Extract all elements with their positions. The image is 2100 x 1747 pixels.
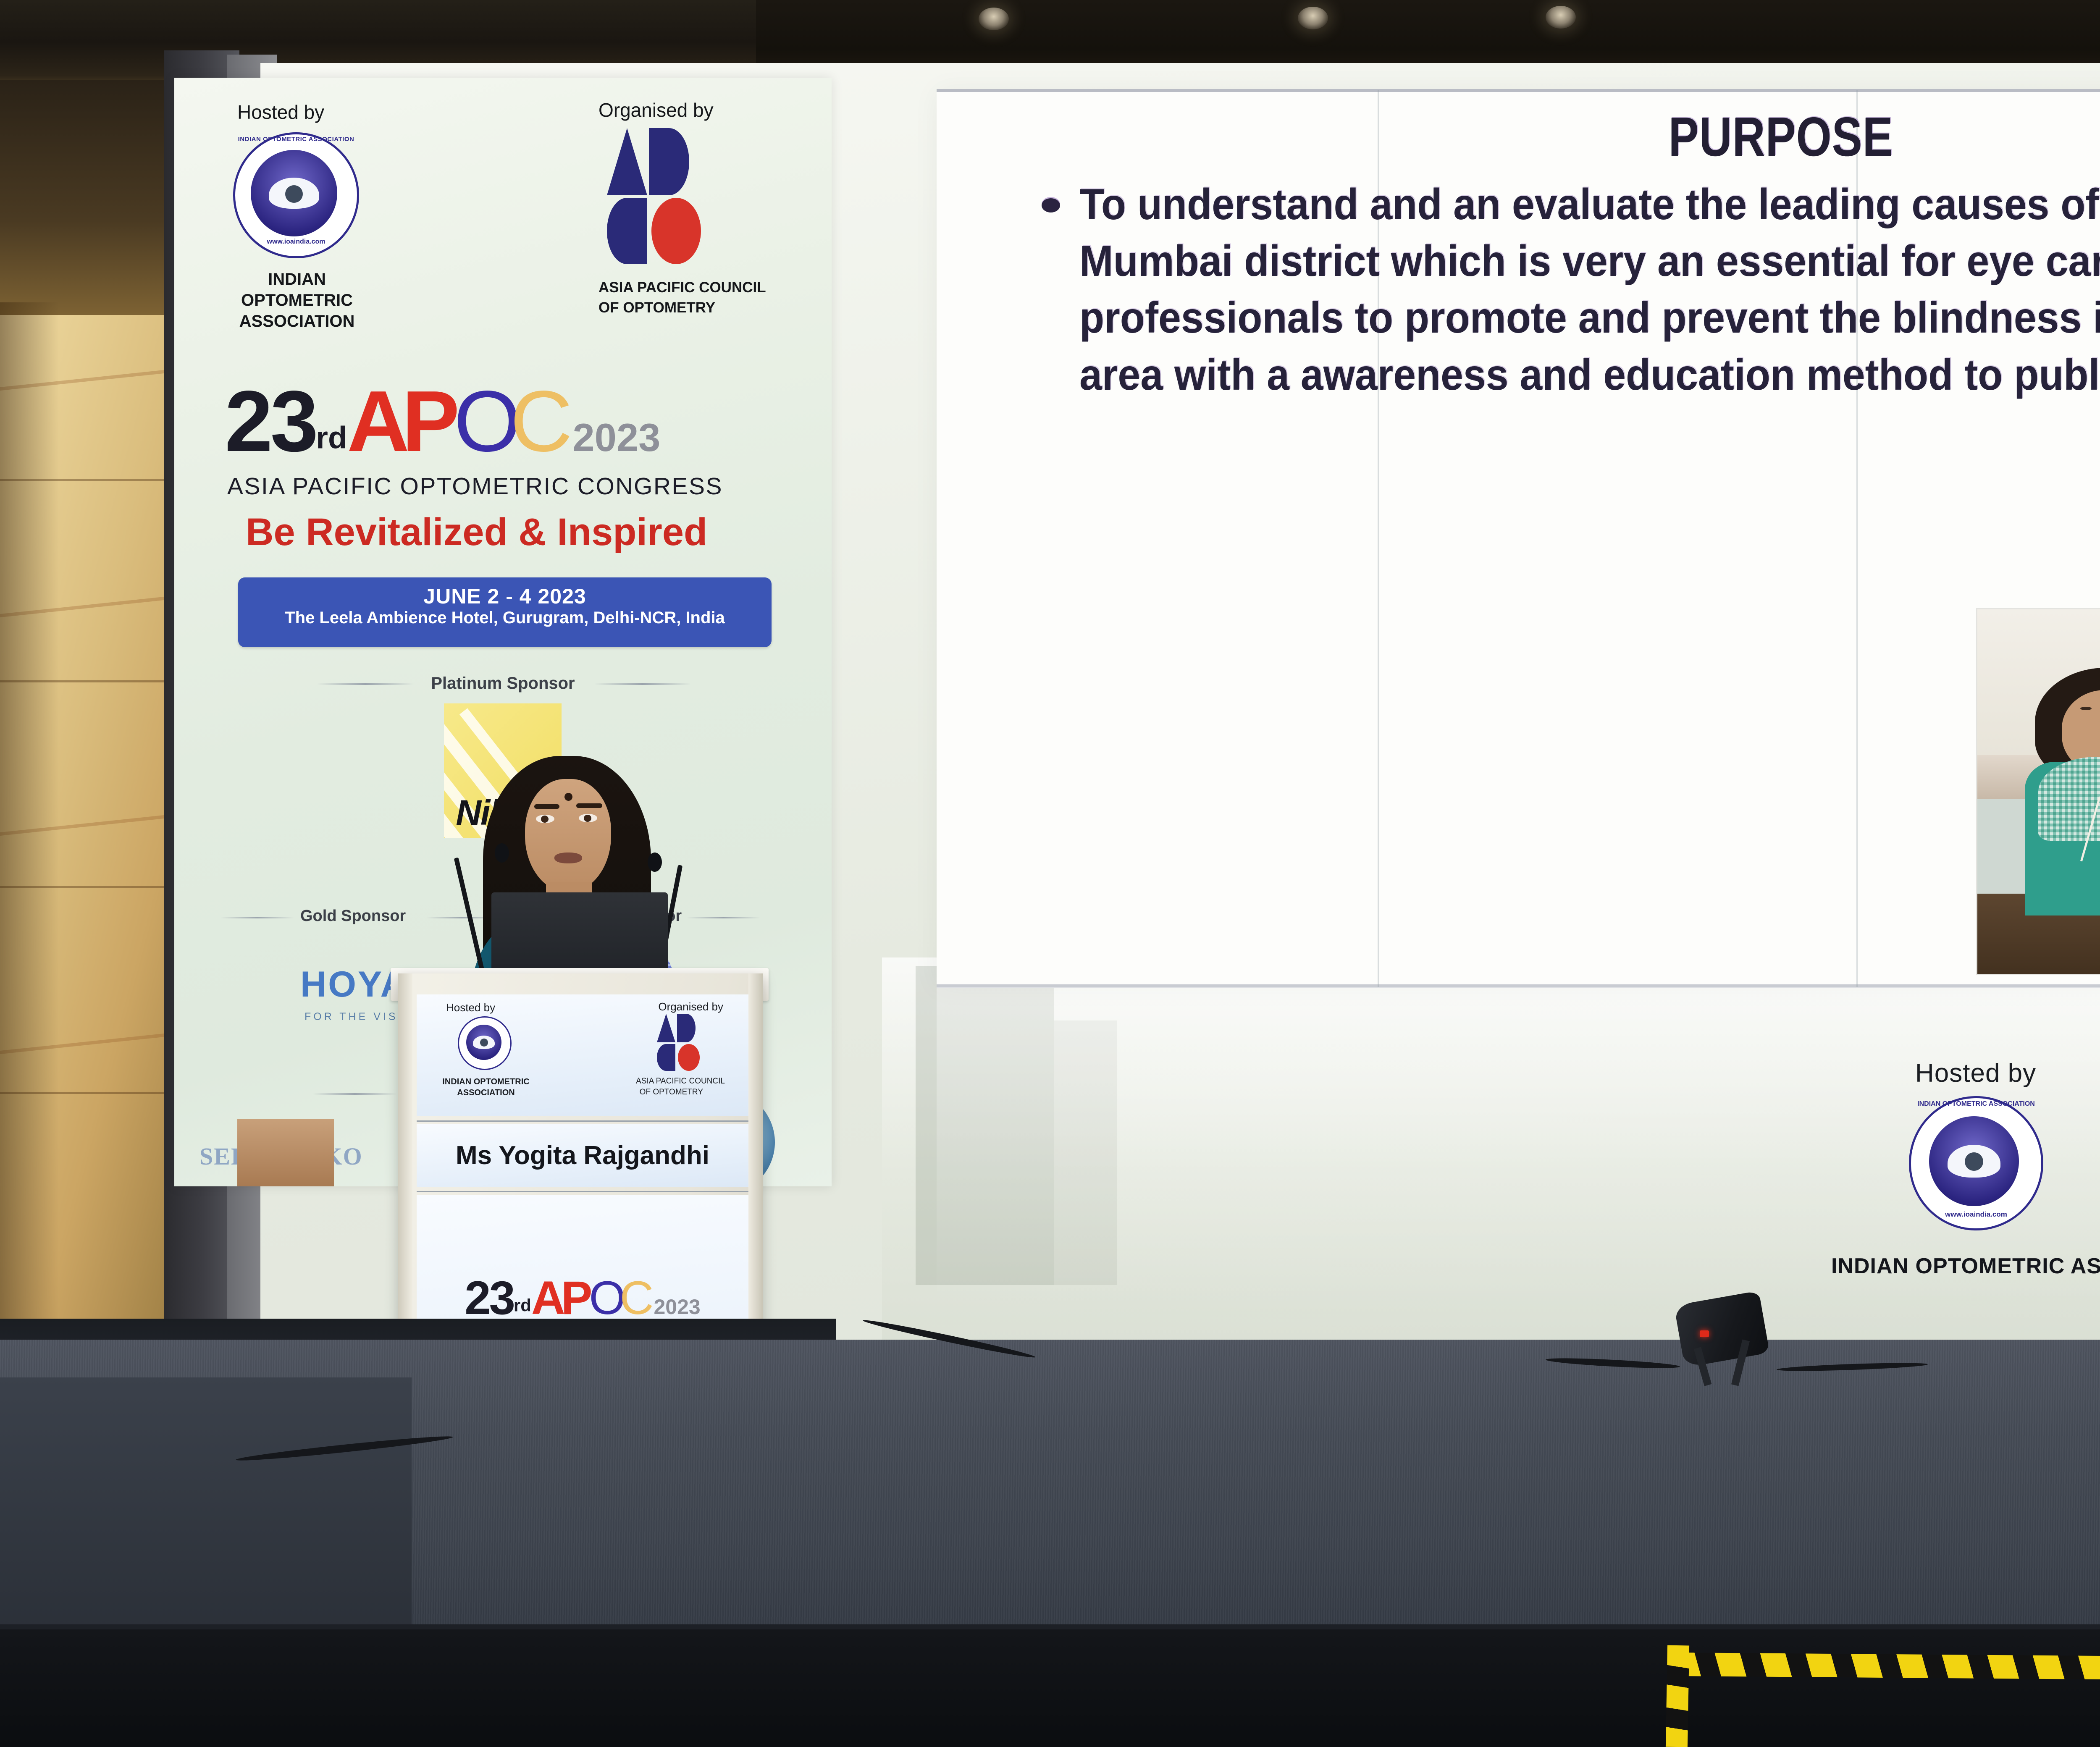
- speaker-eye: [579, 814, 597, 822]
- banner-congress-name: ASIA PACIFIC OPTOMETRIC CONGRESS: [227, 472, 723, 500]
- lectern-edition-number: 23: [465, 1272, 514, 1324]
- acronym-letter-a: A: [347, 373, 402, 470]
- lectern-edition-suffix: rd: [514, 1296, 531, 1315]
- banner-year: 2023: [572, 415, 660, 459]
- slide-title: PURPOSE: [1216, 105, 2100, 168]
- acronym-letter-p: P: [402, 373, 454, 470]
- speaker-mouth: [554, 853, 582, 863]
- conference-stage-scene: PURPOSE To understand and an evaluate th…: [0, 0, 2100, 1747]
- tier-rule: [687, 917, 760, 918]
- edition-number: 23: [225, 373, 316, 470]
- lectern-upper-panel: Hosted by Organised by INDIAN OPTOMETRIC…: [417, 994, 748, 1116]
- banner-host-org-name: INDIAN OPTOMETRIC ASSOCIATION: [226, 269, 368, 332]
- ioa-pupil: [480, 1039, 488, 1047]
- banner-organiser-line2: OF OPTOMETRY: [598, 299, 715, 316]
- apco-logo-block-p: [677, 1014, 696, 1042]
- tier-rule: [594, 683, 691, 685]
- photo-student-left: [2025, 668, 2100, 915]
- photo-eye: [2080, 707, 2092, 710]
- ceiling-spotlight: [1298, 7, 1328, 29]
- banner-hosted-by-label: Hosted by: [237, 101, 324, 123]
- lectern-divider: [417, 1191, 748, 1192]
- banner-wordmark: 23rdAPOC2023: [225, 372, 660, 471]
- apco-logo-block-a: [607, 128, 647, 195]
- speaker-bindi: [564, 793, 572, 801]
- bullet-point-icon: [1042, 198, 1060, 212]
- ceiling-spotlight: [979, 8, 1009, 30]
- stage-par-light: [1674, 1298, 1781, 1386]
- lectern-organiser-line1: ASIA PACIFIC COUNCIL: [636, 1077, 725, 1086]
- lectern-acronym-p: P: [561, 1272, 589, 1324]
- apco-logo-block-o: [678, 1044, 700, 1071]
- banner-tagline: Be Revitalized & Inspired: [246, 510, 707, 554]
- acronym-letter-c: C: [510, 373, 573, 470]
- apco-logo-block-a: [657, 1014, 675, 1042]
- apco-logo: [607, 128, 712, 267]
- banner-monument-art: [237, 1119, 334, 1186]
- speaker-iris: [541, 816, 549, 823]
- acronym-letter-o: O: [454, 373, 510, 470]
- microphone-head-left: [495, 843, 509, 863]
- ioa-pupil: [1965, 1152, 1983, 1171]
- platinum-sponsor-label: Platinum Sponsor: [174, 674, 832, 693]
- tier-rule: [220, 917, 294, 918]
- lectern-nameplate[interactable]: Ms Yogita Rajgandhi: [417, 1124, 748, 1187]
- apco-logo-block-o: [651, 198, 701, 264]
- stage-riser-left: [0, 1377, 412, 1646]
- ioa-pupil: [285, 185, 303, 203]
- par-light-body: [1674, 1291, 1770, 1367]
- banner-venue-line: The Leela Ambience Hotel, Gurugram, Delh…: [238, 609, 772, 627]
- microphone-head-right: [648, 853, 662, 872]
- hazard-tape-vertical: [1666, 1645, 1689, 1747]
- speaker-eye: [536, 815, 554, 823]
- slide-bullet-text: To understand and an evaluate the leadin…: [1079, 176, 2100, 404]
- speaker-iris: [584, 815, 591, 822]
- tier-rule: [317, 683, 414, 685]
- ceiling-spotlight: [1546, 6, 1576, 29]
- lectern-organiser-line2: OF OPTOMETRY: [640, 1088, 703, 1097]
- banner-organiser-line1: ASIA PACIFIC COUNCIL: [598, 279, 766, 296]
- speaker-name-text: Ms Yogita Rajgandhi: [417, 1141, 748, 1170]
- edition-suffix: rd: [316, 420, 347, 455]
- lectern-laptop: [491, 892, 668, 974]
- lectern-hosted-by-label: Hosted by: [446, 1001, 495, 1014]
- lectern-ioa-logo: [458, 1016, 512, 1070]
- lectern-host-org-name: INDIAN OPTOMETRIC ASSOCIATION: [442, 1076, 530, 1098]
- ioa-arc-top-text: INDIAN OPTOMETRIC ASSOCIATION: [1909, 1100, 2043, 1108]
- banner-date-line: JUNE 2 - 4 2023: [238, 584, 772, 609]
- slide-photo: 11 3 2008: [1976, 608, 2100, 975]
- apco-logo-block-c: [657, 1044, 675, 1071]
- lectern-divider: [417, 1120, 748, 1122]
- ioa-arc-bottom-text: www.ioaindia.com: [1909, 1210, 2043, 1219]
- speaker-eyebrow: [534, 804, 559, 809]
- lectern-year: 2023: [654, 1295, 700, 1319]
- apco-logo-block-p: [649, 128, 689, 195]
- slide-bullet-item: To understand and an evaluate the leadin…: [1042, 176, 2100, 404]
- lectern-acronym-c: C: [620, 1272, 654, 1324]
- speaker-eyebrow: [576, 803, 602, 808]
- onyx-wall-gradient: [0, 302, 59, 1344]
- ioa-arc-top-text: INDIAN OPTOMETRIC ASSOCIATION: [233, 136, 359, 143]
- ioa-arc-bottom-text: www.ioaindia.com: [233, 238, 359, 246]
- wall-hosted-by-label: Hosted by: [1915, 1058, 2036, 1088]
- wall-ioa-logo: INDIAN OPTOMETRIC ASSOCIATION www.ioaind…: [1909, 1096, 2043, 1230]
- stage-front-face: [0, 1629, 2100, 1747]
- apco-logo-block-c: [607, 198, 647, 264]
- ioa-logo: INDIAN OPTOMETRIC ASSOCIATION www.ioaind…: [233, 132, 359, 258]
- onyx-wall-shadow-top: [0, 80, 181, 315]
- lectern-organised-by-label: Organised by: [658, 1000, 723, 1013]
- lectern-apco-logo: [657, 1014, 702, 1071]
- banner-organised-by-label: Organised by: [598, 99, 714, 121]
- banner-date-venue-chip: JUNE 2 - 4 2023 The Leela Ambience Hotel…: [238, 577, 772, 647]
- gold-sponsor-label: Gold Sponsor: [300, 907, 406, 925]
- lectern-acronym-o: O: [589, 1272, 619, 1324]
- lectern-wordmark: 23rdAPOC2023: [417, 1271, 748, 1325]
- par-light-led-indicator: [1700, 1330, 1709, 1337]
- wall-host-org-name: INDIAN OPTOMETRIC ASSOCIATION: [1831, 1254, 2100, 1279]
- lectern-acronym-a: A: [531, 1272, 561, 1324]
- screen-top-edge: [937, 89, 2100, 92]
